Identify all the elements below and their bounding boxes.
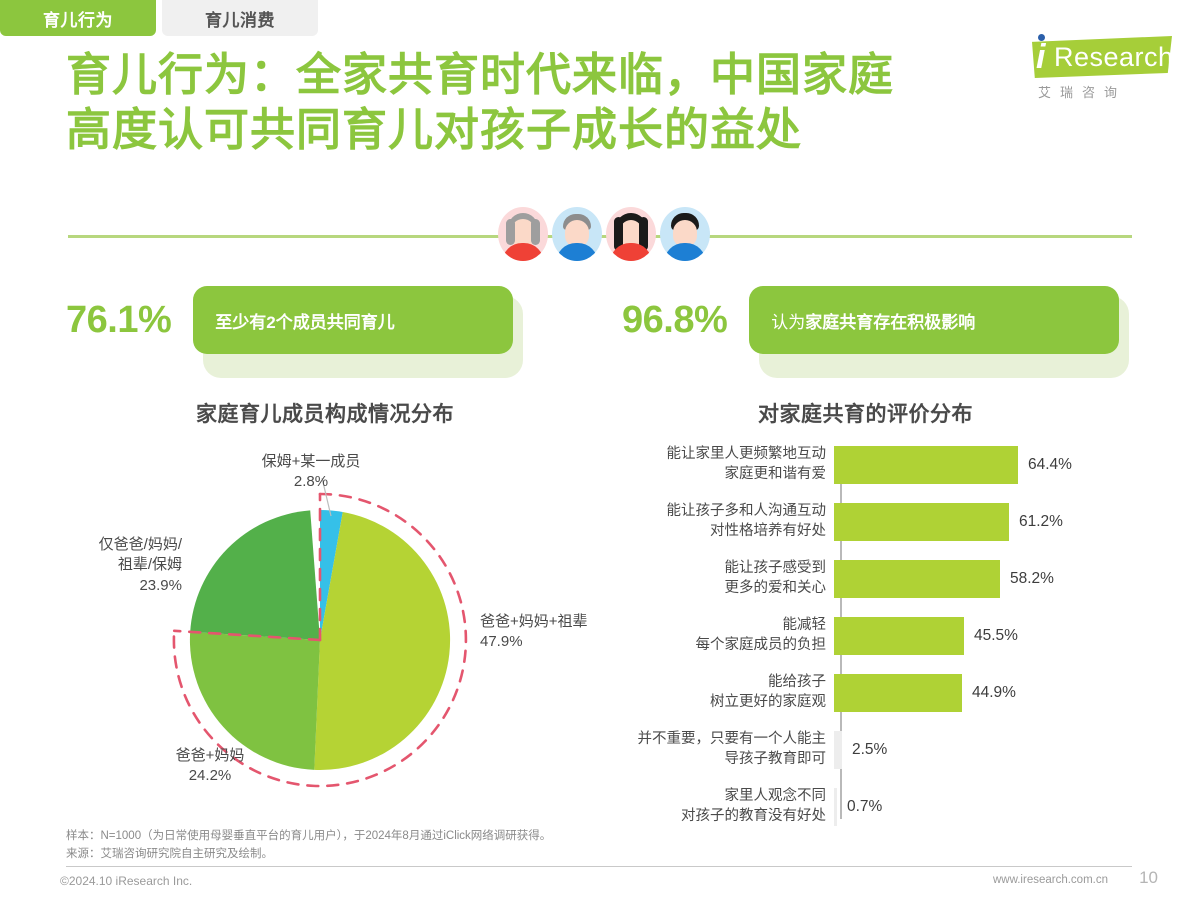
- logo-mark: i Research: [1008, 36, 1172, 80]
- bar-value: 0.7%: [847, 798, 882, 816]
- bar-fill: [834, 560, 1000, 598]
- tab-label: 育儿行为: [43, 6, 113, 31]
- pie-label-nanny-plus-member: 保姆+某一成员 2.8%: [196, 452, 426, 493]
- stat-pill: 认为家庭共育存在积极影响: [749, 286, 1119, 354]
- logo-chinese-name: 艾瑞咨询: [1038, 82, 1172, 101]
- stat-text: 至少有2个成员共同育儿: [215, 308, 394, 333]
- bar-value: 61.2%: [1019, 513, 1063, 531]
- stat-number: 76.1%: [66, 286, 171, 354]
- pie-chart: 保姆+某一成员 2.8% 仅爸爸/妈妈/ 祖辈/保姆 23.9% 爸爸+妈妈+祖…: [60, 440, 620, 830]
- stat-text-prefix: 认为: [771, 308, 805, 333]
- stat-number: 96.8%: [622, 286, 727, 354]
- bar-track: 2.5%: [834, 731, 1180, 769]
- iresearch-logo: i Research 艾瑞咨询: [1008, 36, 1172, 102]
- slide: 育儿行为 育儿消费 育儿行为：全家共育时代来临，中国家庭 高度认可共同育儿对孩子…: [0, 0, 1200, 900]
- tab-parenting-consumption[interactable]: 育儿消费: [162, 0, 318, 36]
- pie-slice-single-caregiver: [190, 510, 320, 640]
- stat-text: 家庭共育存在积极影响: [805, 308, 975, 333]
- family-avatars: [498, 207, 710, 261]
- bar-fill: [834, 788, 837, 826]
- bar-row: 能减轻 每个家庭成员的负担 45.5%: [620, 616, 1180, 655]
- bar-fill: [834, 617, 964, 655]
- avatar-grandmother: [498, 207, 548, 261]
- bar-fill: [834, 503, 1009, 541]
- stat-pill: 至少有2个成员共同育儿: [193, 286, 513, 354]
- bar-fill: [834, 731, 842, 769]
- bar-label: 能给孩子 树立更好的家庭观: [620, 673, 834, 712]
- bar-track: 44.9%: [834, 674, 1180, 712]
- footnote: 样本：N=1000（为日常使用母婴垂直平台的育儿用户），于2024年8月通过iC…: [66, 828, 1132, 864]
- pie-label-dad-mom-grandparents: 爸爸+妈妈+祖辈 47.9%: [480, 612, 630, 653]
- bar-row: 能让家里人更频繁地互动 家庭更和谐有爱 64.4%: [620, 445, 1180, 484]
- stat-card-positive-impact: 96.8% 认为家庭共育存在积极影响: [622, 286, 1129, 378]
- bar-value: 45.5%: [974, 627, 1018, 645]
- bar-fill: [834, 674, 962, 712]
- bar-chart: 能让家里人更频繁地互动 家庭更和谐有爱 64.4% 能让孩子多和人沟通互动 对性…: [620, 445, 1180, 830]
- bar-label: 能减轻 每个家庭成员的负担: [620, 616, 834, 655]
- bar-track: 0.7%: [834, 788, 1180, 826]
- bar-label: 能让家里人更频繁地互动 家庭更和谐有爱: [620, 445, 834, 484]
- footer-rule: [66, 866, 1132, 867]
- bar-value: 58.2%: [1010, 570, 1054, 588]
- bar-row: 并不重要，只要有一个人能主 导孩子教育即可 2.5%: [620, 730, 1180, 769]
- bar-fill: [834, 446, 1018, 484]
- pie-label-dad-mom: 爸爸+妈妈 24.2%: [120, 746, 300, 787]
- bar-row: 家里人观念不同 对孩子的教育没有好处 0.7%: [620, 787, 1180, 826]
- avatar-mother: [606, 207, 656, 261]
- bar-track: 64.4%: [834, 446, 1180, 484]
- bar-label: 能让孩子多和人沟通互动 对性格培养有好处: [620, 502, 834, 541]
- footer-website[interactable]: www.iresearch.com.cn: [993, 874, 1108, 886]
- avatar-father: [660, 207, 710, 261]
- stat-card-co-parenting: 76.1% 至少有2个成员共同育儿: [66, 286, 523, 378]
- tab-parenting-behavior[interactable]: 育儿行为: [0, 0, 156, 36]
- footer-copyright: ©2024.10 iResearch Inc.: [60, 874, 192, 888]
- bar-row: 能让孩子感受到 更多的爱和关心 58.2%: [620, 559, 1180, 598]
- bar-row: 能给孩子 树立更好的家庭观 44.9%: [620, 673, 1180, 712]
- bar-value: 2.5%: [852, 741, 887, 759]
- footnote-source: 来源：艾瑞咨询研究院自主研究及绘制。: [66, 846, 1132, 864]
- tab-label: 育儿消费: [205, 6, 275, 31]
- bar-chart-heading: 对家庭共育的评价分布: [758, 398, 973, 428]
- tab-bar: 育儿行为 育儿消费: [0, 0, 318, 36]
- stat-pill-wrapper: 认为家庭共育存在积极影响: [749, 286, 1129, 378]
- footer-page-number: 10: [1139, 868, 1158, 888]
- footnote-sample: 样本：N=1000（为日常使用母婴垂直平台的育儿用户），于2024年8月通过iC…: [66, 828, 1132, 846]
- bar-value: 64.4%: [1028, 456, 1072, 474]
- logo-letter-i: i: [1036, 40, 1045, 74]
- avatar-grandfather: [552, 207, 602, 261]
- stat-pill-wrapper: 至少有2个成员共同育儿: [193, 286, 523, 378]
- bar-track: 61.2%: [834, 503, 1180, 541]
- page-title: 育儿行为：全家共育时代来临，中国家庭 高度认可共同育儿对孩子成长的益处: [66, 48, 1026, 158]
- bar-label: 并不重要，只要有一个人能主 导孩子教育即可: [620, 730, 834, 769]
- bar-track: 58.2%: [834, 560, 1180, 598]
- pie-chart-heading: 家庭育儿成员构成情况分布: [196, 398, 454, 428]
- bar-label: 家里人观念不同 对孩子的教育没有好处: [620, 787, 834, 826]
- stat-cards: 76.1% 至少有2个成员共同育儿 96.8% 认为家庭共育存在积极影响: [0, 286, 1200, 386]
- pie-label-single-caregiver: 仅爸爸/妈妈/ 祖辈/保姆 23.9%: [52, 535, 182, 596]
- logo-wordmark: Research: [1054, 40, 1174, 74]
- bar-track: 45.5%: [834, 617, 1180, 655]
- bar-value: 44.9%: [972, 684, 1016, 702]
- bar-row: 能让孩子多和人沟通互动 对性格培养有好处 61.2%: [620, 502, 1180, 541]
- bar-label: 能让孩子感受到 更多的爱和关心: [620, 559, 834, 598]
